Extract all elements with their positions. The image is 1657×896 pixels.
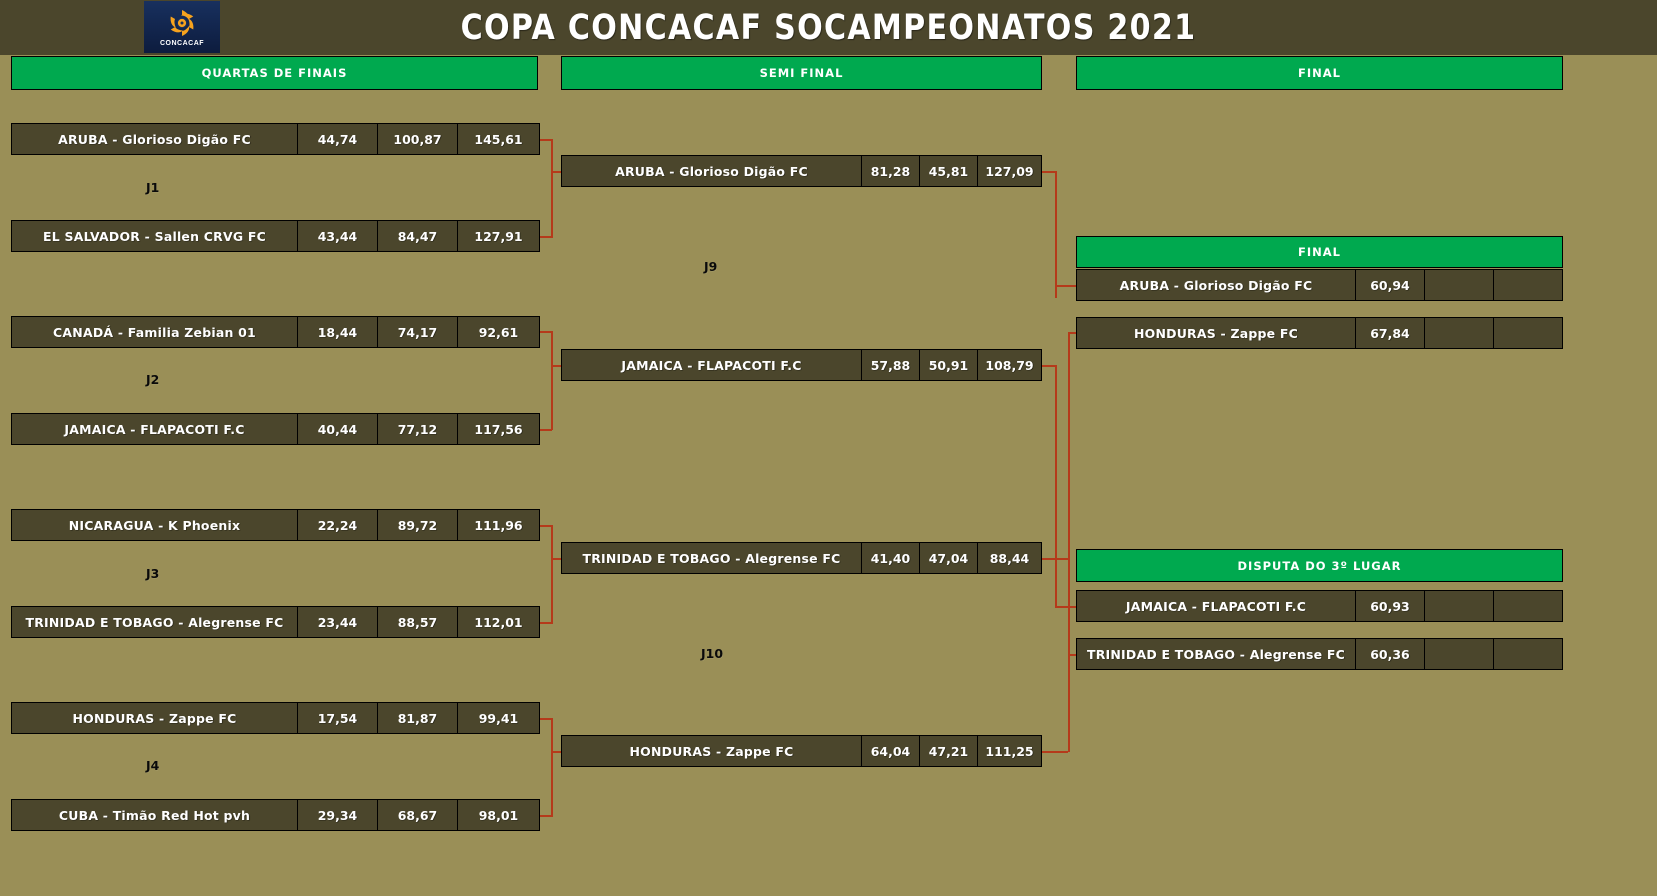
score-leg1: 64,04 — [861, 736, 919, 766]
table-row[interactable]: TRINIDAD E TOBAGO - Alegrense FC 41,40 4… — [561, 542, 1042, 574]
connector — [1068, 332, 1070, 752]
score-leg2: 47,21 — [919, 736, 977, 766]
team-label: EL SALVADOR - Sallen CRVG FC — [12, 221, 297, 251]
team-label: ARUBA - Glorioso Digão FC — [1077, 270, 1355, 300]
score-total — [1493, 591, 1562, 621]
page-title: COPA CONCACAF SOCAMPEONATOS 2021 — [116, 0, 1541, 55]
table-row[interactable]: ARUBA - Glorioso Digão FC 81,28 45,81 12… — [561, 155, 1042, 187]
connector — [1042, 365, 1056, 367]
score-leg2: 89,72 — [377, 510, 457, 540]
table-row[interactable]: JAMAICA - FLAPACOTI F.C 57,88 50,91 108,… — [561, 349, 1042, 381]
leg-label: J1 — [146, 180, 159, 195]
score-leg2: 84,47 — [377, 221, 457, 251]
page-header: CONCACAF COPA CONCACAF SOCAMPEONATOS 202… — [0, 0, 1657, 55]
connector — [551, 139, 553, 238]
score-leg1: 23,44 — [297, 607, 377, 637]
team-label: NICARAGUA - K Phoenix — [12, 510, 297, 540]
leg-label: J3 — [146, 566, 159, 581]
score-leg1: 44,74 — [297, 124, 377, 154]
score-leg2: 68,67 — [377, 800, 457, 830]
connector — [1055, 171, 1057, 298]
score-leg1: 18,44 — [297, 317, 377, 347]
score-total — [1493, 639, 1562, 669]
team-label: TRINIDAD E TOBAGO - Alegrense FC — [562, 543, 861, 573]
team-label: JAMAICA - FLAPACOTI F.C — [562, 350, 861, 380]
score-leg1: 40,44 — [297, 414, 377, 444]
score-leg2: 77,12 — [377, 414, 457, 444]
team-label: ARUBA - Glorioso Digão FC — [562, 156, 861, 186]
banner-final-box: FINAL — [1076, 236, 1563, 268]
table-row[interactable]: HONDURAS - Zappe FC 17,54 81,87 99,41 — [11, 702, 540, 734]
score-total: 127,09 — [977, 156, 1041, 186]
connector — [551, 718, 553, 817]
score-total: 111,25 — [977, 736, 1041, 766]
score-total: 145,61 — [457, 124, 539, 154]
banner-quarterfinals: QUARTAS DE FINAIS — [11, 56, 538, 90]
score-total: 117,56 — [457, 414, 539, 444]
score-leg2: 88,57 — [377, 607, 457, 637]
score-leg1: 17,54 — [297, 703, 377, 733]
score-total: 112,01 — [457, 607, 539, 637]
team-label: CANADÁ - Familia Zebian 01 — [12, 317, 297, 347]
team-label: ARUBA - Glorioso Digão FC — [12, 124, 297, 154]
score-leg1: 60,94 — [1355, 270, 1424, 300]
banner-third-place: DISPUTA DO 3º LUGAR — [1076, 549, 1563, 582]
score-leg1: 67,84 — [1355, 318, 1424, 348]
team-label: HONDURAS - Zappe FC — [562, 736, 861, 766]
connector — [1055, 365, 1057, 607]
score-leg2: 45,81 — [919, 156, 977, 186]
table-row[interactable]: CANADÁ - Familia Zebian 01 18,44 74,17 9… — [11, 316, 540, 348]
leg-label: J9 — [704, 259, 717, 274]
leg-label: J10 — [701, 646, 723, 661]
team-label: JAMAICA - FLAPACOTI F.C — [1077, 591, 1355, 621]
team-label: JAMAICA - FLAPACOTI F.C — [12, 414, 297, 444]
leg-label: J4 — [146, 758, 159, 773]
score-leg2 — [1424, 591, 1493, 621]
team-label: TRINIDAD E TOBAGO - Alegrense FC — [12, 607, 297, 637]
score-leg2: 50,91 — [919, 350, 977, 380]
table-row[interactable]: HONDURAS - Zappe FC 67,84 — [1076, 317, 1563, 349]
connector — [1042, 171, 1056, 173]
team-label: CUBA - Timão Red Hot pvh — [12, 800, 297, 830]
team-label: HONDURAS - Zappe FC — [1077, 318, 1355, 348]
table-row[interactable]: HONDURAS - Zappe FC 64,04 47,21 111,25 — [561, 735, 1042, 767]
connector — [1055, 606, 1077, 608]
table-row[interactable]: JAMAICA - FLAPACOTI F.C 40,44 77,12 117,… — [11, 413, 540, 445]
score-leg1: 22,24 — [297, 510, 377, 540]
score-leg1: 43,44 — [297, 221, 377, 251]
score-total — [1493, 318, 1562, 348]
score-leg1: 60,36 — [1355, 639, 1424, 669]
table-row[interactable]: NICARAGUA - K Phoenix 22,24 89,72 111,96 — [11, 509, 540, 541]
connector — [1042, 751, 1068, 753]
score-total: 111,96 — [457, 510, 539, 540]
score-leg1: 29,34 — [297, 800, 377, 830]
score-total: 99,41 — [457, 703, 539, 733]
team-label: TRINIDAD E TOBAGO - Alegrense FC — [1077, 639, 1355, 669]
table-row[interactable]: EL SALVADOR - Sallen CRVG FC 43,44 84,47… — [11, 220, 540, 252]
score-leg2 — [1424, 270, 1493, 300]
connector — [1055, 285, 1077, 287]
connector — [551, 331, 553, 430]
banner-semifinal: SEMI FINAL — [561, 56, 1042, 90]
score-total: 108,79 — [977, 350, 1041, 380]
table-row[interactable]: TRINIDAD E TOBAGO - Alegrense FC 23,44 8… — [11, 606, 540, 638]
connector — [1042, 558, 1056, 560]
score-leg2 — [1424, 318, 1493, 348]
score-leg1: 60,93 — [1355, 591, 1424, 621]
table-row[interactable]: ARUBA - Glorioso Digão FC 60,94 — [1076, 269, 1563, 301]
score-total: 88,44 — [977, 543, 1041, 573]
banner-final-column: FINAL — [1076, 56, 1563, 90]
score-leg1: 41,40 — [861, 543, 919, 573]
score-total: 98,01 — [457, 800, 539, 830]
score-leg2: 81,87 — [377, 703, 457, 733]
connector — [551, 525, 553, 624]
score-leg1: 57,88 — [861, 350, 919, 380]
leg-label: J2 — [146, 372, 159, 387]
score-leg2: 74,17 — [377, 317, 457, 347]
table-row[interactable]: TRINIDAD E TOBAGO - Alegrense FC 60,36 — [1076, 638, 1563, 670]
score-leg2 — [1424, 639, 1493, 669]
score-leg2: 47,04 — [919, 543, 977, 573]
team-label: HONDURAS - Zappe FC — [12, 703, 297, 733]
score-leg2: 100,87 — [377, 124, 457, 154]
score-total — [1493, 270, 1562, 300]
score-total: 127,91 — [457, 221, 539, 251]
score-total: 92,61 — [457, 317, 539, 347]
table-row[interactable]: JAMAICA - FLAPACOTI F.C 60,93 — [1076, 590, 1563, 622]
score-leg1: 81,28 — [861, 156, 919, 186]
table-row[interactable]: ARUBA - Glorioso Digão FC 44,74 100,87 1… — [11, 123, 540, 155]
table-row[interactable]: CUBA - Timão Red Hot pvh 29,34 68,67 98,… — [11, 799, 540, 831]
